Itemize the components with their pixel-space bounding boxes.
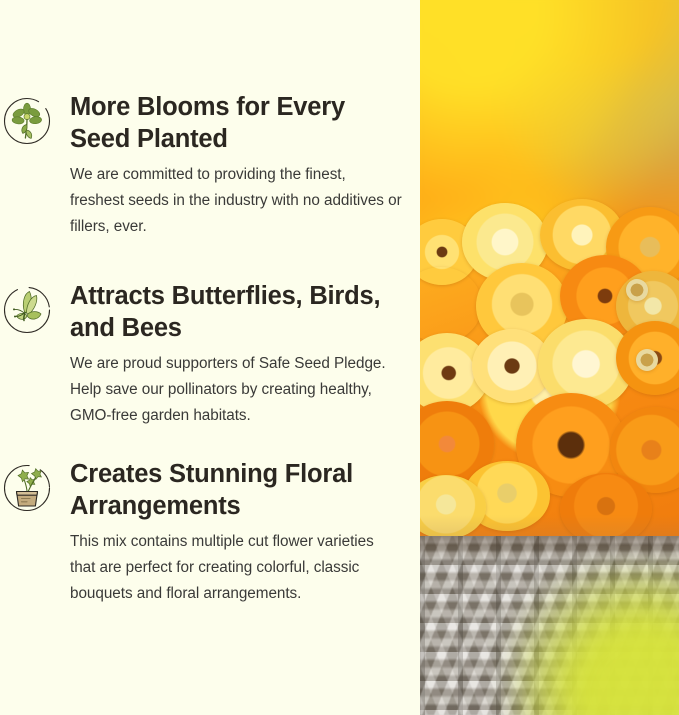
- flower-seed-head: [626, 279, 648, 301]
- butterfly-icon: [2, 285, 52, 335]
- feature-title: Attracts Butterflies, Birds, and Bees: [70, 281, 402, 344]
- calendula-flower-cluster: [420, 225, 679, 555]
- feature-title: Creates Stunning Floral Arrangements: [70, 459, 402, 522]
- flower-bloom: [420, 267, 482, 343]
- feature-body: More Blooms for Every Seed Planted We ar…: [70, 92, 420, 240]
- flower-seed-head: [636, 349, 658, 371]
- product-photo: [420, 0, 679, 715]
- feature-item-attracts-pollinators: Attracts Butterflies, Birds, and Bees We…: [0, 281, 420, 429]
- background-foliage-blur: [513, 567, 679, 715]
- wicker-basket: [420, 536, 679, 715]
- potted-plant-icon: [2, 463, 52, 513]
- flower-bloom-icon: [2, 96, 52, 146]
- feature-item-floral-arrangements: Creates Stunning Floral Arrangements Thi…: [0, 459, 420, 607]
- feature-description: We are committed to providing the finest…: [70, 162, 402, 240]
- feature-description: We are proud supporters of Safe Seed Ple…: [70, 351, 402, 429]
- features-panel: More Blooms for Every Seed Planted We ar…: [0, 0, 420, 715]
- feature-body: Attracts Butterflies, Birds, and Bees We…: [70, 281, 420, 429]
- feature-title: More Blooms for Every Seed Planted: [70, 92, 402, 155]
- feature-body: Creates Stunning Floral Arrangements Thi…: [70, 459, 420, 607]
- product-feature-page: More Blooms for Every Seed Planted We ar…: [0, 0, 679, 715]
- basket-rim-shadow: [420, 536, 679, 558]
- feature-description: This mix contains multiple cut flower va…: [70, 529, 402, 607]
- feature-item-more-blooms: More Blooms for Every Seed Planted We ar…: [0, 92, 420, 240]
